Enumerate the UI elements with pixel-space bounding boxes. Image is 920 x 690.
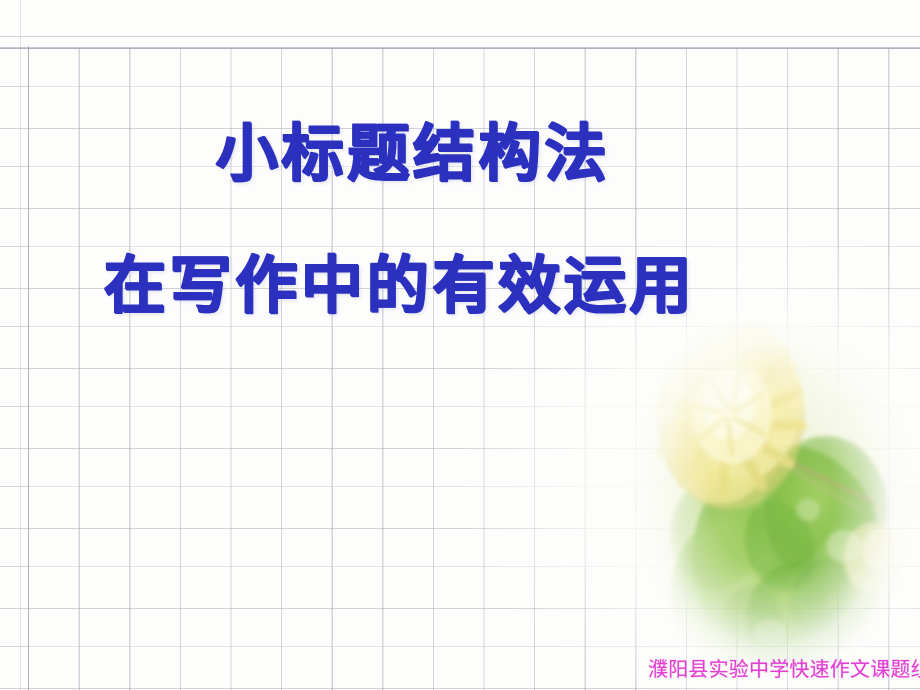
manuscript-paper-background [0,0,920,690]
grid-outer-margin-rule [20,0,21,690]
grid-top-rule [0,47,920,49]
presentation-slide: 小标题结构法 在写作中的有效运用 濮阳县实验中学快速作文课题组 [0,0,920,690]
grid-vertical-rules [28,48,920,690]
footer-credit-text: 濮阳县实验中学快速作文课题组 [648,656,920,682]
grid-left-margin-rule [28,46,29,690]
